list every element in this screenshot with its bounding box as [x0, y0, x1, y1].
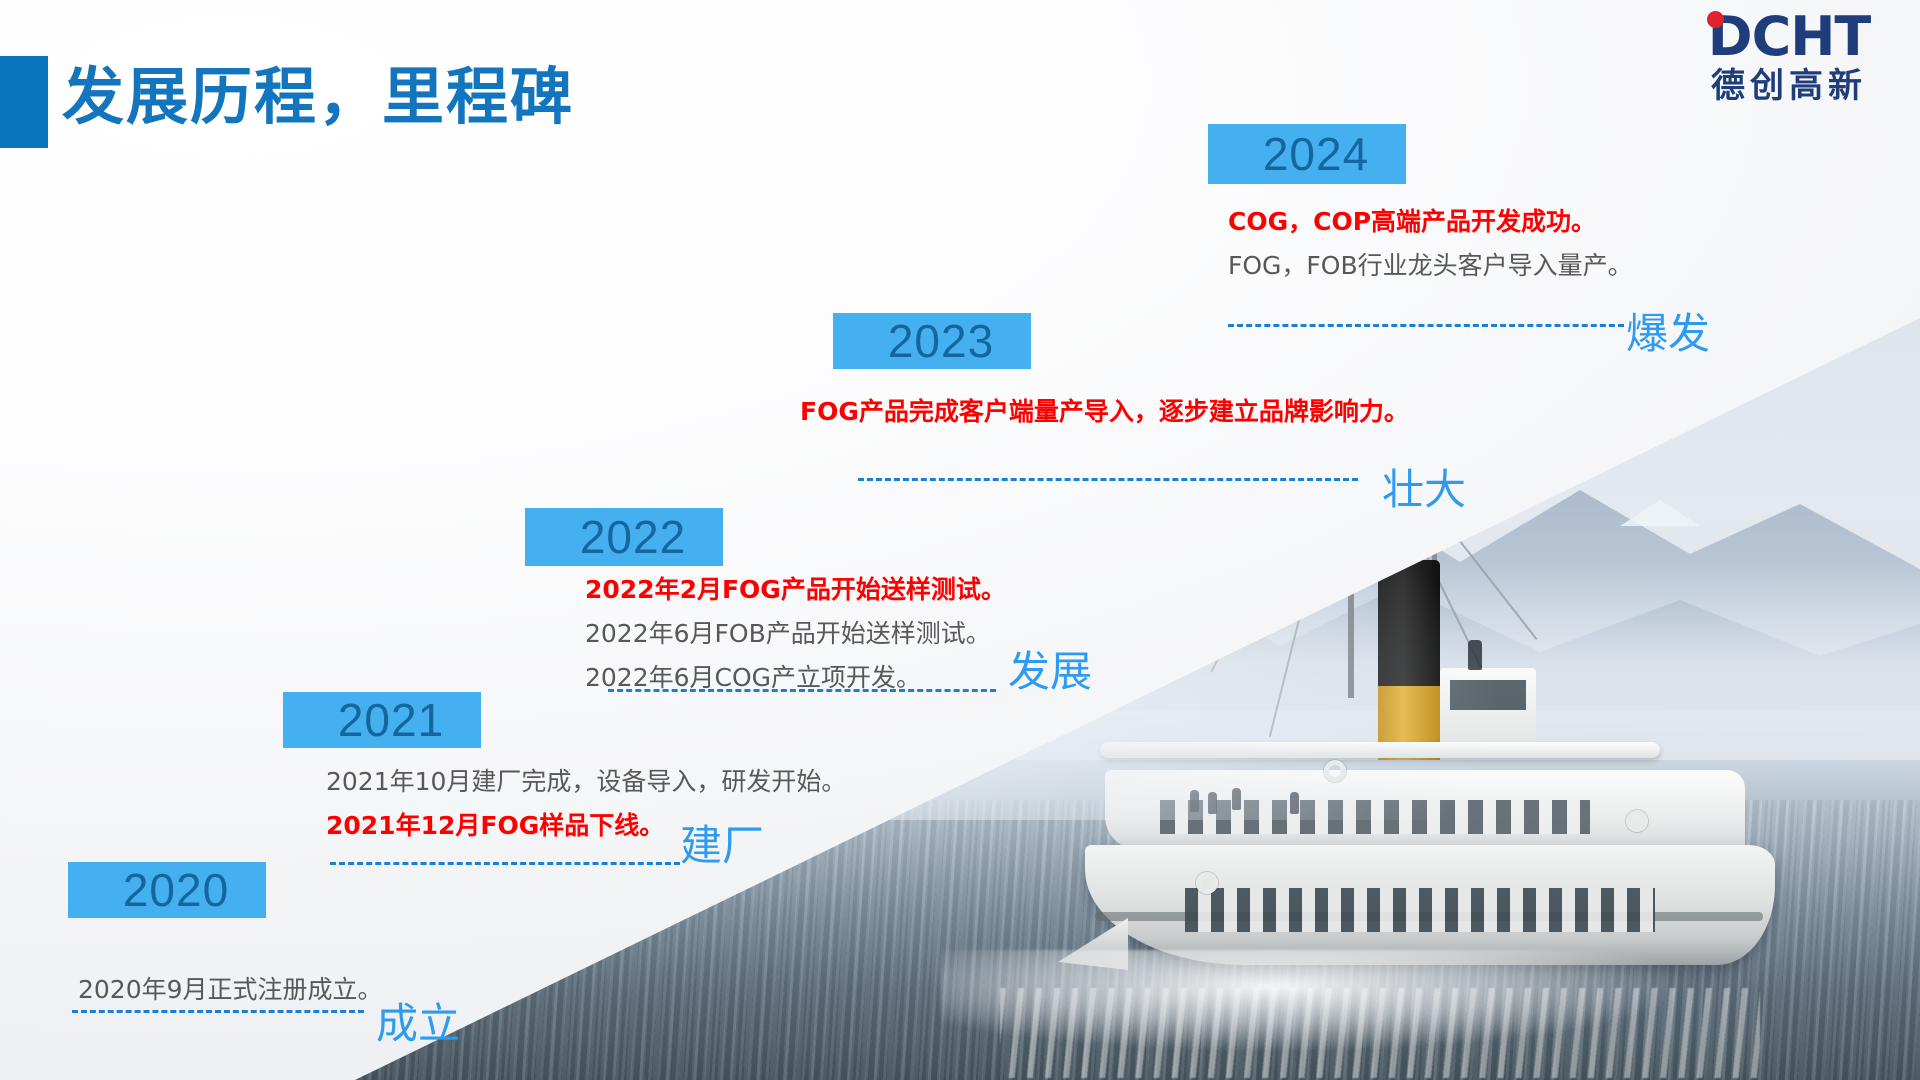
- snow-cap-icon: [1000, 560, 1090, 588]
- logo-mark-text: DCHT: [1680, 8, 1898, 66]
- milestone-line: 2022年2月FOG产品开始送样测试。: [585, 568, 1006, 612]
- milestone-line: FOG产品完成客户端量产导入，逐步建立品牌影响力。: [800, 390, 1409, 434]
- milestone-2022-phase-label: 发展: [1008, 638, 1092, 699]
- logo-mark-label: DCHT: [1708, 5, 1870, 68]
- boat-wake-foam: [1000, 988, 1760, 1078]
- milestone-2024-lines: COG，COP高端产品开发成功。 FOG，FOB行业龙头客户导入量产。: [1228, 200, 1633, 288]
- milestone-line: 2021年10月建厂完成，设备导入，研发开始。: [326, 760, 846, 804]
- slide-canvas: 发展历程，里程碑 DCHT 德创高新 2024 COG，COP高端产品开发成功。…: [0, 0, 1920, 1080]
- milestone-2020-phase-label: 成立: [376, 990, 460, 1051]
- boat-lower-windows: [1185, 888, 1655, 932]
- year-label: 2024: [1263, 127, 1369, 181]
- year-badge-2021[interactable]: 2021: [283, 692, 481, 748]
- year-badge-2023[interactable]: 2023: [833, 313, 1031, 369]
- milestone-line: 2021年12月FOG样品下线。: [326, 804, 846, 848]
- year-label: 2022: [580, 510, 686, 564]
- milestone-2022-lines: 2022年2月FOG产品开始送样测试。 2022年6月FOB产品开始送样测试。 …: [585, 568, 1006, 700]
- milestone-2023-lines: FOG产品完成客户端量产导入，逐步建立品牌影响力。: [800, 390, 1409, 434]
- year-badge-2020[interactable]: 2020: [68, 862, 266, 918]
- year-badge-2022[interactable]: 2022: [525, 508, 723, 566]
- year-label: 2020: [123, 863, 229, 917]
- year-label: 2021: [338, 693, 444, 747]
- milestone-2024-phase-label: 爆发: [1626, 300, 1710, 361]
- company-logo: DCHT 德创高新: [1680, 8, 1898, 112]
- milestone-2022-dash-line: [608, 689, 996, 692]
- milestone-2020-lines: 2020年9月正式注册成立。: [78, 968, 383, 1012]
- fog-overlay: [640, 300, 1920, 820]
- milestone-2021-dash-line: [330, 862, 680, 865]
- milestone-line: FOG，FOB行业龙头客户导入量产。: [1228, 244, 1633, 288]
- milestone-line: 2022年6月COG产立项开发。: [585, 656, 1006, 700]
- milestone-2021-phase-label: 建厂: [680, 812, 764, 873]
- milestone-2023-phase-label: 壮大: [1382, 456, 1466, 517]
- page-title: 发展历程，里程碑: [62, 46, 574, 136]
- milestone-2020-dash-line: [72, 1010, 364, 1013]
- logo-wordmark-cn: 德创高新: [1680, 66, 1898, 106]
- snow-cap-icon: [1150, 488, 1220, 514]
- milestone-line: 2022年6月FOB产品开始送样测试。: [585, 612, 1006, 656]
- lake-steamer-photo: [0, 0, 1920, 1080]
- year-badge-2024[interactable]: 2024: [1208, 124, 1406, 184]
- milestone-2023-dash-line: [858, 478, 1358, 481]
- diagonal-photo-panel: [0, 0, 1920, 1080]
- milestone-2021-lines: 2021年10月建厂完成，设备导入，研发开始。 2021年12月FOG样品下线。: [326, 760, 846, 848]
- boat-pennant-flag: [1330, 430, 1374, 516]
- milestone-2024-dash-line: [1228, 324, 1624, 327]
- milestone-line: COG，COP高端产品开发成功。: [1228, 200, 1633, 244]
- milestone-line: 2020年9月正式注册成立。: [78, 968, 383, 1012]
- life-ring-icon: [1196, 872, 1218, 894]
- title-accent-bar: [0, 56, 48, 148]
- logo-red-dot-icon: [1707, 11, 1724, 28]
- year-label: 2023: [888, 314, 994, 368]
